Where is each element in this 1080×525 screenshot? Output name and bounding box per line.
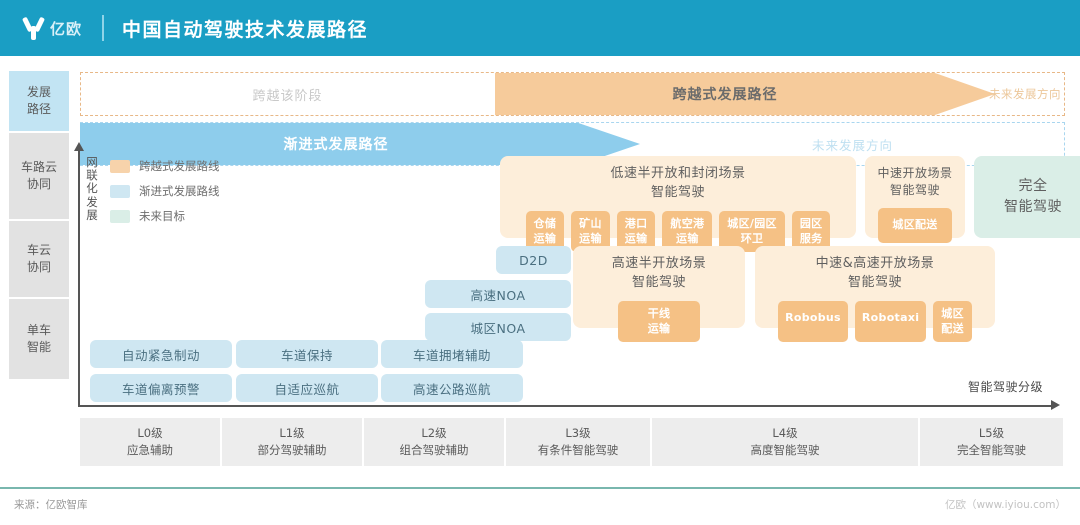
y-axis-arrow-icon [74, 142, 84, 151]
legend-swatch-future [110, 210, 130, 223]
tag-robobus[interactable]: Robobus [778, 301, 848, 343]
leapfrog-path-arrow: 跨越式发展路径 [495, 73, 995, 115]
tag-group-high-speed-semi: 干线运输 [573, 293, 745, 343]
level-column-l1: L1级 部分驾驶辅助 [222, 418, 364, 466]
panel-title-low-speed: 低速半开放和封闭场景智能驾驶 [500, 156, 856, 203]
tag-robotaxi[interactable]: Robotaxi [855, 301, 926, 343]
blue-box-urban-noa[interactable]: 城区NOA [425, 313, 571, 341]
level-code-l3: L3级 [565, 425, 590, 442]
level-code-l4: L4级 [772, 425, 797, 442]
panel-title-full: 完全智能驾驶 [1004, 176, 1062, 218]
autonomy-level-axis: L0级 应急辅助 L1级 部分驾驶辅助 L2级 组合驾驶辅助 L3级 有条件智能… [80, 418, 1065, 466]
future-direction-top-label: 未来发展方向 [985, 73, 1065, 115]
level-name-l1: 部分驾驶辅助 [258, 442, 327, 459]
panel-low-speed-closed-scene: 低速半开放和封闭场景智能驾驶 仓储运输 矿山运输 港口运输 航空港运输 城区/园… [500, 156, 856, 238]
footer-source: 来源：亿欧智库 [14, 497, 88, 512]
level-name-l5: 完全智能驾驶 [957, 442, 1026, 459]
sidebar-label-2: 车云协同 [27, 242, 51, 277]
blue-box-highway-cruise[interactable]: 高速公路巡航 [381, 374, 523, 402]
legend-item-future: 未来目标 [110, 208, 220, 224]
x-axis-arrow-icon [1051, 400, 1060, 410]
y-axis-label: 网联化发展 [84, 156, 100, 222]
level-name-l0: 应急辅助 [127, 442, 173, 459]
tag-group-low-speed: 仓储运输 矿山运输 港口运输 航空港运输 城区/园区环卫 园区服务 [500, 203, 856, 253]
level-column-l0: L0级 应急辅助 [80, 418, 222, 466]
panel-mid-high-open-scene: 中速&高速开放场景智能驾驶 Robobus Robotaxi 城区配送 [755, 246, 995, 328]
footer-brand: 亿欧（www.iyiou.com） [945, 497, 1066, 512]
level-column-l3: L3级 有条件智能驾驶 [506, 418, 652, 466]
level-code-l2: L2级 [421, 425, 446, 442]
legend-label-progressive: 渐进式发展路线 [139, 183, 220, 199]
x-axis-label: 智能驾驶分级 [968, 378, 1043, 395]
yiou-logo-icon [22, 14, 48, 42]
sidebar-item-development-path: 发展路径 [8, 70, 70, 132]
legend-label-leapfrog: 跨越式发展路线 [139, 158, 220, 174]
sidebar-label-3: 单车智能 [27, 322, 51, 357]
blue-box-lane-keeping[interactable]: 车道保持 [236, 340, 378, 368]
blue-box-lane-departure-warning[interactable]: 车道偏离预警 [90, 374, 232, 402]
x-axis-line [78, 405, 1053, 407]
panel-title-mid-high-open: 中速&高速开放场景智能驾驶 [755, 246, 995, 293]
page-title: 中国自动驾驶技术发展路径 [122, 15, 368, 42]
page-header: 亿欧 中国自动驾驶技术发展路径 [0, 0, 1080, 56]
sidebar-label-0: 发展路径 [27, 84, 51, 119]
brand-logo: 亿欧 [22, 14, 82, 42]
legend-item-progressive: 渐进式发展路线 [110, 183, 220, 199]
panel-mid-speed-open-scene: 中速开放场景智能驾驶 城区配送 [865, 156, 965, 238]
blue-box-d2d[interactable]: D2D [496, 246, 571, 274]
level-code-l0: L0级 [137, 425, 162, 442]
level-code-l1: L1级 [279, 425, 304, 442]
level-column-l2: L2级 组合驾驶辅助 [364, 418, 506, 466]
skip-stage-label: 跨越该阶段 [80, 73, 495, 115]
tag-group-mid-high-open: Robobus Robotaxi 城区配送 [755, 293, 995, 343]
sidebar-label-1: 车路云协同 [21, 159, 57, 194]
chart-legend: 跨越式发展路线 渐进式发展路线 未来目标 [110, 158, 220, 233]
blue-box-traffic-jam-assist[interactable]: 车道拥堵辅助 [381, 340, 523, 368]
level-code-l5: L5级 [979, 425, 1004, 442]
logo-text: 亿欧 [50, 18, 82, 39]
panel-high-speed-semi-open-scene: 高速半开放场景智能驾驶 干线运输 [573, 246, 745, 328]
blue-box-aeb[interactable]: 自动紧急制动 [90, 340, 232, 368]
category-sidebar: 发展路径 车路云协同 车云协同 单车智能 [8, 70, 70, 380]
sidebar-item-vehicle-road-cloud: 车路云协同 [8, 132, 70, 220]
legend-item-leapfrog: 跨越式发展路线 [110, 158, 220, 174]
level-name-l4: 高度智能驾驶 [751, 442, 820, 459]
level-column-l5: L5级 完全智能驾驶 [920, 418, 1063, 466]
chart-plot-area: 网联化发展 智能驾驶分级 跨越式发展路线 渐进式发展路线 未来目标 低速半开放和… [78, 150, 1068, 412]
y-axis-line [78, 150, 80, 405]
sidebar-item-single-vehicle: 单车智能 [8, 298, 70, 380]
panel-title-high-speed-semi: 高速半开放场景智能驾驶 [573, 246, 745, 293]
legend-swatch-leapfrog [110, 160, 130, 173]
tag-urban-delivery-high[interactable]: 城区配送 [933, 301, 972, 343]
header-divider [102, 15, 104, 41]
legend-swatch-progressive [110, 185, 130, 198]
leapfrog-path-label: 跨越式发展路径 [673, 84, 778, 104]
blue-box-adaptive-cruise[interactable]: 自适应巡航 [236, 374, 378, 402]
legend-label-future: 未来目标 [139, 208, 185, 224]
development-path-arrows: 跨越该阶段 跨越式发展路径 未来发展方向 渐进式发展路径 未来发展方向 [80, 72, 1065, 134]
panel-title-mid-speed: 中速开放场景智能驾驶 [865, 156, 965, 200]
footer-divider [0, 487, 1080, 489]
panel-full-autonomous-driving: 完全智能驾驶 [974, 156, 1080, 238]
sidebar-item-vehicle-cloud: 车云协同 [8, 220, 70, 298]
tag-trunk-transport[interactable]: 干线运输 [618, 301, 701, 343]
level-column-l4: L4级 高度智能驾驶 [652, 418, 920, 466]
level-name-l2: 组合驾驶辅助 [400, 442, 469, 459]
tag-urban-delivery-mid[interactable]: 城区配送 [878, 208, 951, 243]
tag-group-mid-speed: 城区配送 [865, 200, 965, 243]
level-name-l3: 有条件智能驾驶 [538, 442, 619, 459]
blue-box-highway-noa[interactable]: 高速NOA [425, 280, 571, 308]
